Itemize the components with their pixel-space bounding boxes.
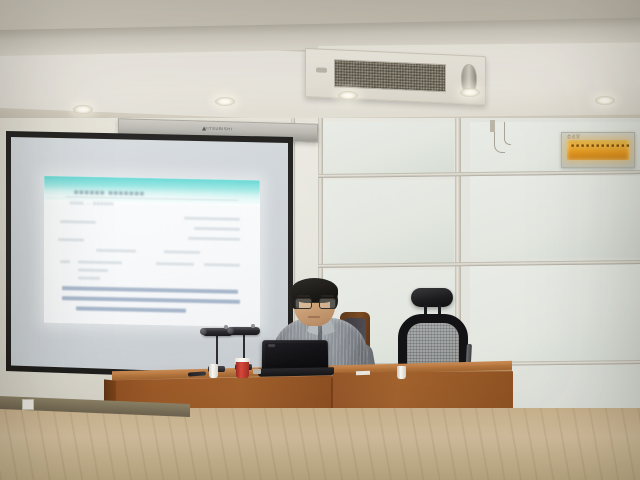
downlight-icon bbox=[460, 88, 480, 97]
housing-brand-label: MITSUBISHI bbox=[204, 126, 233, 132]
slide-highlight-line bbox=[76, 306, 186, 312]
floor bbox=[0, 408, 640, 480]
slide-body-line bbox=[164, 250, 200, 254]
wall-panel bbox=[324, 180, 454, 264]
laptop-logo-icon bbox=[268, 344, 275, 347]
slide-body-line bbox=[96, 249, 136, 253]
eyeglass-bridge bbox=[310, 302, 319, 303]
eyeglass-lens-left bbox=[295, 298, 312, 309]
laptop-keyboard-base[interactable] bbox=[258, 367, 334, 377]
slide-body-line bbox=[60, 260, 70, 263]
led-sign: 会议室 ■■■■■■■■■■■■ ■ ■ ■ bbox=[561, 132, 635, 168]
ceiling-ac-unit-icon bbox=[305, 48, 486, 105]
presenter-mouth bbox=[308, 316, 320, 318]
downlight-icon bbox=[215, 97, 235, 106]
wall-outlet bbox=[22, 399, 34, 410]
downlight-icon bbox=[338, 91, 358, 100]
desk-small-object bbox=[253, 369, 261, 374]
slide-body-line bbox=[78, 268, 108, 272]
slide-body-line bbox=[78, 260, 122, 264]
slide-body-line bbox=[58, 238, 84, 242]
slide-subtitle: ■■■■ — ■■■■■■ bbox=[70, 200, 165, 207]
microphone-capsule bbox=[200, 328, 207, 335]
slide-highlight-line bbox=[62, 296, 240, 304]
slide-body-line bbox=[184, 217, 240, 221]
eyeglasses-icon bbox=[294, 298, 335, 308]
ac-sensor bbox=[316, 67, 327, 72]
microphone-stem bbox=[216, 334, 218, 368]
ac-grille bbox=[334, 59, 446, 92]
microphone-capsule bbox=[227, 327, 234, 334]
slide-body-line bbox=[194, 227, 240, 231]
downlight-icon bbox=[595, 96, 615, 105]
downlight-icon bbox=[73, 105, 93, 114]
projected-slide: ■■■■■■ ■■■■■■■ ■■■■ — ■■■■■■ bbox=[44, 176, 260, 328]
white-paper-cup bbox=[209, 364, 218, 378]
wall-panel bbox=[324, 122, 454, 174]
chair-headrest bbox=[411, 288, 453, 307]
white-cup-far-right bbox=[397, 366, 406, 379]
laptop-screen[interactable] bbox=[262, 340, 328, 371]
eyebrow-right bbox=[321, 295, 334, 297]
slide-highlight-line bbox=[62, 286, 238, 294]
wire-clip bbox=[490, 120, 495, 132]
microphone-indicator-icon bbox=[251, 324, 255, 328]
eyebrow-left bbox=[297, 295, 310, 297]
slide-body-line bbox=[204, 263, 240, 267]
wall-panel bbox=[470, 262, 640, 362]
wall-panel bbox=[470, 176, 640, 258]
red-paper-cup bbox=[236, 360, 249, 378]
red-cup-rim bbox=[235, 358, 250, 362]
slide-body-line bbox=[188, 237, 240, 241]
led-sign-display: ■■■■■■■■■■■■ ■ ■ ■ bbox=[567, 140, 629, 160]
hanging-wire bbox=[504, 122, 511, 145]
eyeglass-lens-right bbox=[319, 298, 336, 309]
slide-body-line bbox=[60, 220, 96, 224]
slide-body-line bbox=[78, 276, 100, 279]
paper-sheet bbox=[356, 371, 370, 375]
led-sign-text: ■■■■■■■■■■■■ ■ ■ ■ bbox=[571, 143, 626, 149]
slide-body-line bbox=[156, 262, 194, 266]
conference-room-photo: 会议室 ■■■■■■■■■■■■ ■ ■ ■ MITSUBISHI ■■■■■■… bbox=[0, 0, 640, 480]
